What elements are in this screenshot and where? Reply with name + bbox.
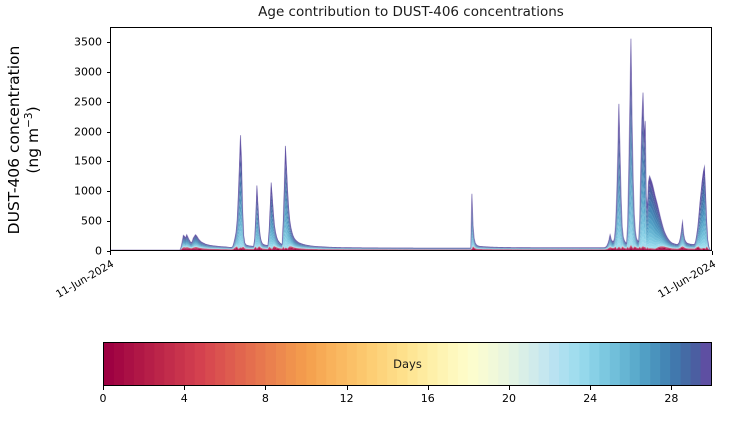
colorbar-tick-mark [509, 386, 510, 390]
x-tick-label: 11-Jun-2024 [48, 258, 116, 304]
colorbar-tick-label: 8 [262, 392, 269, 405]
colorbar-tick-mark [184, 386, 185, 390]
plot-area [110, 27, 712, 251]
colorbar-tick-mark [428, 386, 429, 390]
colorbar-tick-mark [347, 386, 348, 390]
y-tick-label: 3000 [0, 65, 102, 78]
chart-title: Age contribution to DUST-406 concentrati… [110, 4, 712, 20]
colorbar-tick-label: 20 [502, 392, 516, 405]
colorbar-tick-label: 4 [181, 392, 188, 405]
y-tick-label: 2500 [0, 95, 102, 108]
colorbar-tick-mark [265, 386, 266, 390]
colorbar-tick-label: 16 [421, 392, 435, 405]
colorbar-tick-mark [103, 386, 104, 390]
figure: Age contribution to DUST-406 concentrati… [0, 0, 739, 425]
colorbar-tick-mark [590, 386, 591, 390]
y-tick-label: 0 [0, 245, 102, 258]
colorbar-tick-label: 0 [100, 392, 107, 405]
x-tick-mark [712, 251, 713, 255]
y-tick-label: 1500 [0, 155, 102, 168]
colorbar-gradient [104, 343, 711, 385]
y-tick-label: 2000 [0, 125, 102, 138]
colorbar-tick-label: 12 [340, 392, 354, 405]
y-tick-label: 3500 [0, 35, 102, 48]
y-tick-label: 500 [0, 215, 102, 228]
colorbar-tick-label: 28 [664, 392, 678, 405]
stacked-area-series [111, 28, 711, 250]
colorbar-tick-label: 24 [583, 392, 597, 405]
x-tick-label: 11-Jun-2024 [650, 258, 718, 304]
y-tick-label: 1000 [0, 185, 102, 198]
x-tick-mark [110, 251, 111, 255]
colorbar[interactable] [103, 342, 712, 386]
colorbar-tick-mark [671, 386, 672, 390]
